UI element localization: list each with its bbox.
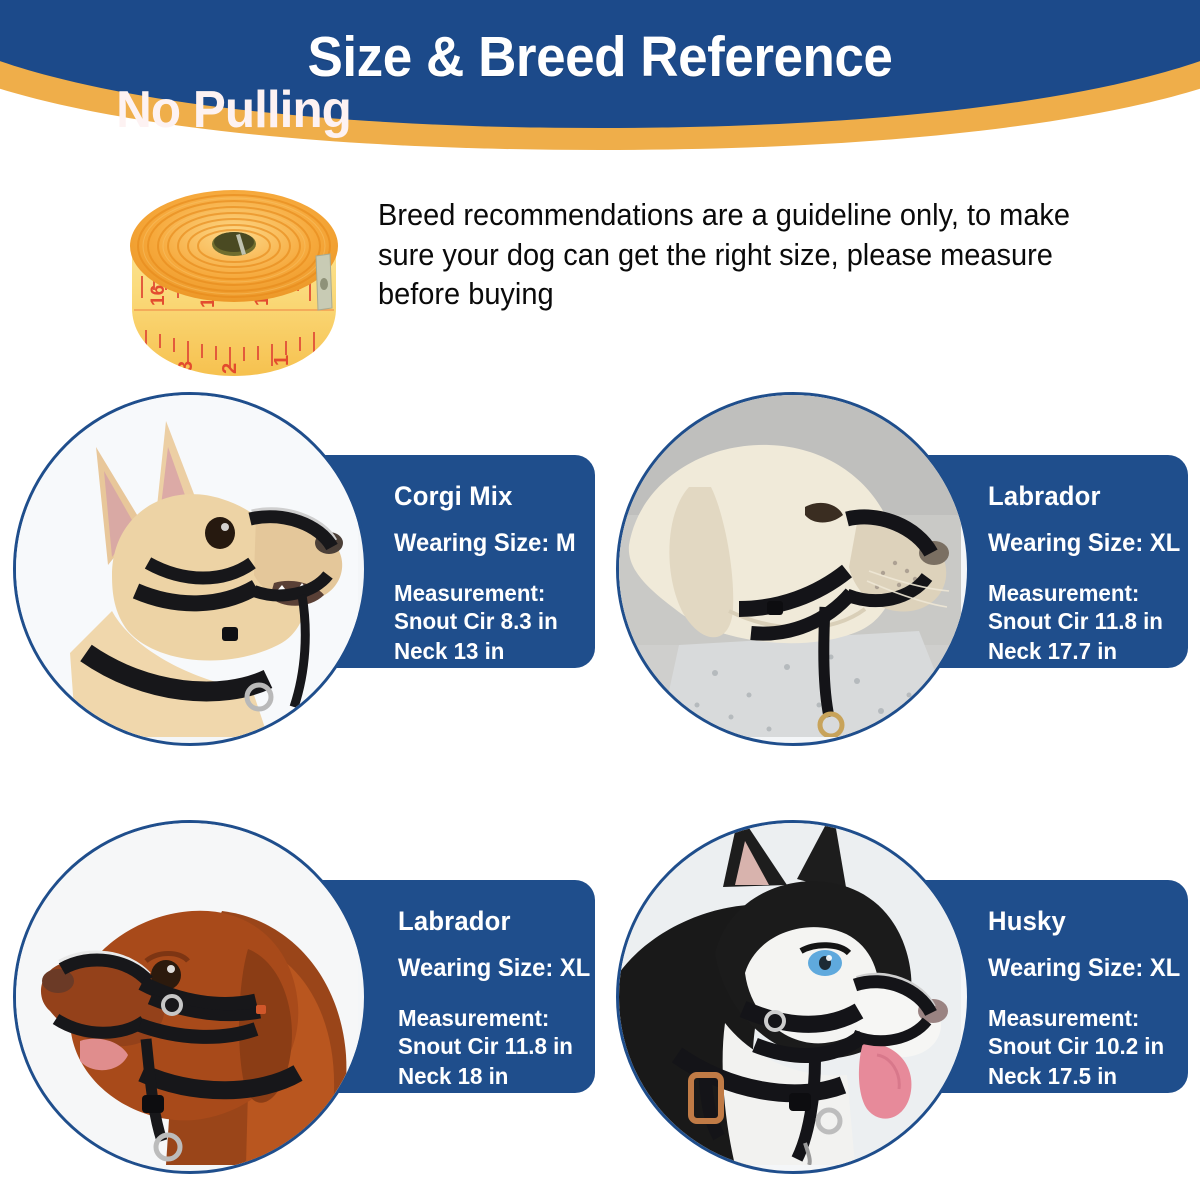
card-neck-measure: Neck 17.7 in: [988, 637, 1178, 667]
wearing-size-label: Wearing Size:: [988, 529, 1150, 557]
card-photo-circle: [13, 392, 367, 746]
page-title: Size & Breed Reference: [42, 24, 1158, 90]
card-snout-measure: Snout Cir 11.8 in: [988, 607, 1178, 637]
wearing-size-value: M: [556, 529, 576, 557]
svg-text:3: 3: [175, 361, 197, 372]
infographic-root: No Pulling Size & Breed Reference: [0, 0, 1200, 1200]
card-photo-circle: [616, 820, 970, 1174]
tape-measure-image: 16 15 14 4 3 2 1: [118, 158, 348, 386]
card-measurement-label: Measurement:: [394, 580, 585, 607]
card-photo-circle: [13, 820, 367, 1174]
header-banner: No Pulling Size & Breed Reference: [0, 0, 1200, 175]
svg-text:2: 2: [219, 363, 241, 374]
wearing-size-label: Wearing Size:: [988, 954, 1150, 982]
card-snout-measure: Snout Cir 10.2 in: [988, 1032, 1178, 1062]
card-measurement-label: Measurement:: [398, 1005, 585, 1032]
wearing-size-label: Wearing Size:: [394, 529, 556, 557]
wearing-size-value: XL: [1150, 529, 1180, 557]
card-wearing-size: Wearing Size: XL: [988, 954, 1178, 983]
svg-text:1: 1: [271, 355, 293, 366]
card-wearing-size: Wearing Size: M: [394, 529, 585, 558]
card-breed-name: Corgi Mix: [394, 481, 585, 512]
card-breed-name: Labrador: [398, 906, 585, 937]
intro-note: Breed recommendations are a guideline on…: [378, 196, 1100, 315]
card-neck-measure: Neck 13 in: [394, 637, 585, 667]
card-breed-name: Labrador: [988, 481, 1178, 512]
card-snout-measure: Snout Cir 11.8 in: [398, 1032, 585, 1062]
svg-text:4: 4: [133, 354, 155, 366]
wearing-size-value: XL: [1150, 954, 1180, 982]
card-wearing-size: Wearing Size: XL: [398, 954, 585, 983]
card-photo-circle: [616, 392, 970, 746]
wearing-size-value: XL: [560, 954, 590, 982]
card-snout-measure: Snout Cir 8.3 in: [394, 607, 585, 637]
wearing-size-label: Wearing Size:: [398, 954, 560, 982]
card-neck-measure: Neck 18 in: [398, 1062, 585, 1092]
card-measurement-label: Measurement:: [988, 1005, 1178, 1032]
card-neck-measure: Neck 17.5 in: [988, 1062, 1178, 1092]
card-measurement-label: Measurement:: [988, 580, 1178, 607]
card-breed-name: Husky: [988, 906, 1178, 937]
card-wearing-size: Wearing Size: XL: [988, 529, 1178, 558]
